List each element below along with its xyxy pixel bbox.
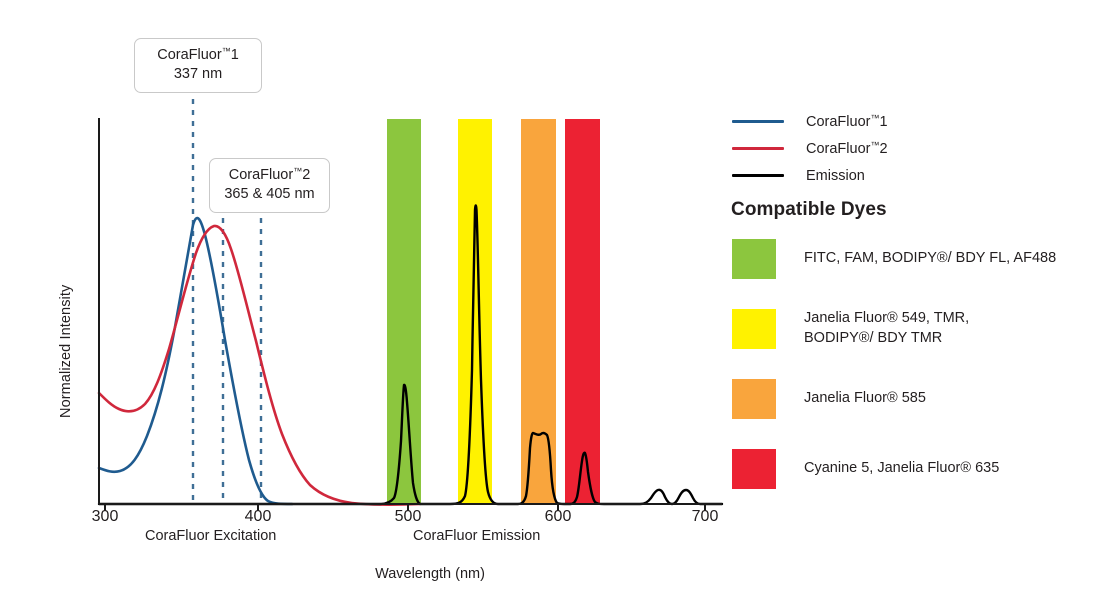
dye-label-green-line1: FITC, FAM, BODIPY®/ BDY FL, AF488 (804, 249, 1056, 269)
callout-2-line1: CoraFluor™2 (229, 167, 311, 183)
compatible-dyes-title: Compatible Dyes (731, 199, 887, 221)
dye-swatch-yellow (732, 309, 776, 349)
callout-1-line1: CoraFluor™1 (157, 47, 239, 63)
callout-corafluor-1: CoraFluor™1 337 nm (134, 38, 262, 93)
compatible-dyes-list: FITC, FAM, BODIPY®/ BDY FL, AF488 Janeli… (730, 232, 1110, 512)
callout-2-line2: 365 & 405 nm (222, 185, 317, 204)
dye-row-yellow: Janelia Fluor® 549, TMR, BODIPY®/ BDY TM… (730, 302, 1110, 356)
dye-swatch-orange (732, 379, 776, 419)
callout-corafluor-2: CoraFluor™2 365 & 405 nm (209, 158, 330, 213)
x-tick-label-500: 500 (378, 508, 438, 526)
y-axis-label: Normalized Intensity (58, 58, 74, 238)
legend-line-icon-corafluor-2 (732, 147, 784, 150)
legend-item-emission: Emission (730, 162, 1090, 189)
dye-label-yellow-line1: Janelia Fluor® 549, TMR, (804, 309, 969, 329)
region-label-excitation: CoraFluor Excitation (145, 528, 276, 544)
curve-corafluor-2 (99, 226, 420, 505)
dye-swatch-red (732, 449, 776, 489)
dye-band-yellow (458, 119, 492, 504)
dye-band-green (387, 119, 421, 504)
dye-label-red: Cyanine 5, Janelia Fluor® 635 (804, 459, 999, 479)
x-tick-label-300: 300 (75, 508, 135, 526)
region-label-emission: CoraFluor Emission (413, 528, 540, 544)
dye-band-red (565, 119, 600, 504)
legend-label-corafluor-1: CoraFluor™1 (806, 113, 888, 130)
x-axis-title: Wavelength (nm) (270, 566, 590, 582)
dye-row-orange: Janelia Fluor® 585 (730, 372, 1110, 426)
y-axis-label-text: Normalized Intensity (58, 238, 74, 418)
dye-label-yellow: Janelia Fluor® 549, TMR, BODIPY®/ BDY TM… (804, 309, 969, 348)
x-tick-label-600: 600 (528, 508, 588, 526)
legend-panel: CoraFluor™1 CoraFluor™2 Emission Compati… (730, 0, 1110, 612)
excitation-marker-lines (193, 88, 261, 504)
curve-corafluor-1 (99, 218, 292, 504)
plot-area: Normalized Intensity 300 400 500 600 700… (0, 0, 730, 612)
legend-line-icon-corafluor-1 (732, 120, 784, 123)
dye-row-green: FITC, FAM, BODIPY®/ BDY FL, AF488 (730, 232, 1110, 286)
x-tick-label-400: 400 (228, 508, 288, 526)
figure-root: Normalized Intensity 300 400 500 600 700… (0, 0, 1110, 612)
legend-line-icon-emission (732, 174, 784, 177)
legend-label-emission: Emission (806, 168, 865, 184)
series-legend: CoraFluor™1 CoraFluor™2 Emission (730, 108, 1090, 189)
x-tick-label-700: 700 (675, 508, 735, 526)
legend-item-corafluor-2: CoraFluor™2 (730, 135, 1090, 162)
legend-label-corafluor-2: CoraFluor™2 (806, 140, 888, 157)
dye-label-red-line1: Cyanine 5, Janelia Fluor® 635 (804, 459, 999, 479)
dye-label-yellow-line2: BODIPY®/ BDY TMR (804, 329, 969, 349)
dye-row-red: Cyanine 5, Janelia Fluor® 635 (730, 442, 1110, 496)
dye-label-orange: Janelia Fluor® 585 (804, 389, 926, 409)
dye-label-orange-line1: Janelia Fluor® 585 (804, 389, 926, 409)
legend-item-corafluor-1: CoraFluor™1 (730, 108, 1090, 135)
callout-1-line2: 337 nm (147, 65, 249, 84)
dye-bands (387, 119, 600, 504)
dye-swatch-green (732, 239, 776, 279)
dye-band-orange (521, 119, 556, 504)
dye-label-green: FITC, FAM, BODIPY®/ BDY FL, AF488 (804, 249, 1056, 269)
